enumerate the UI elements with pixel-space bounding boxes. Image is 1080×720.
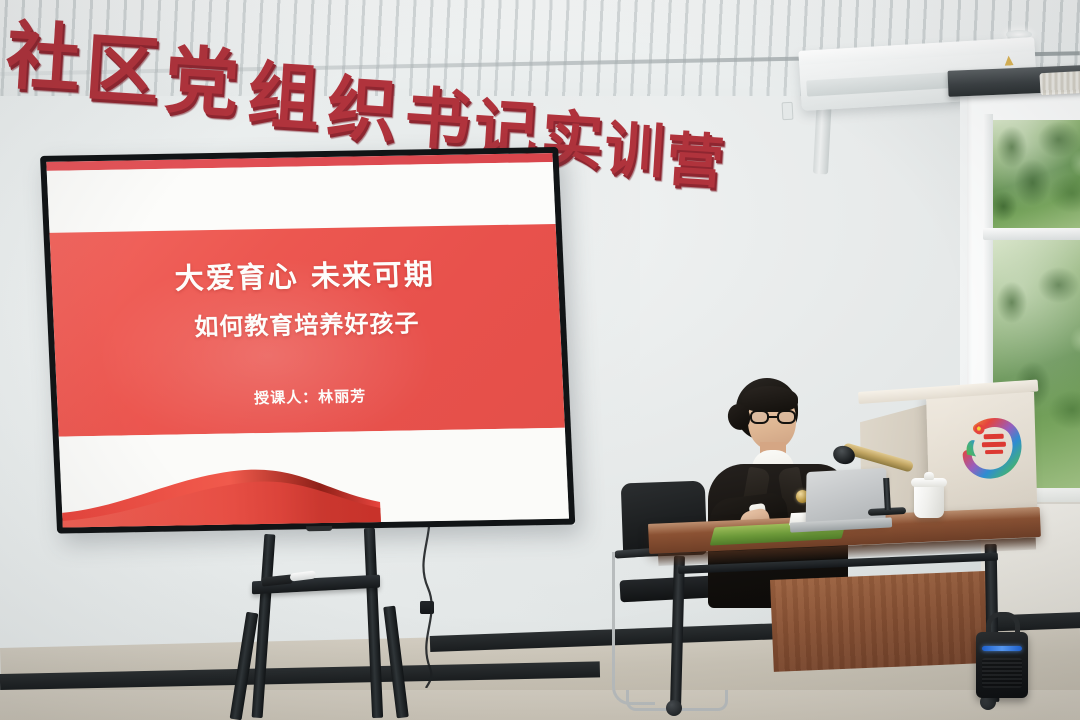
speaker-grill (982, 658, 1022, 688)
wall-slogan-char: 社 (4, 19, 83, 98)
wall-slogan-char: 营 (664, 130, 726, 192)
community-party-emblem-icon (961, 413, 1025, 483)
glasses-icon (750, 410, 796, 424)
floor-foreground (0, 690, 1080, 720)
wall-slogan-char: 训 (603, 119, 667, 183)
slide-title: 大爱育心 未来可期 (51, 249, 559, 300)
slide-canvas: 大爱育心 未来可期 如何教育培养好孩子 授课人：林丽芳 (46, 153, 569, 527)
tv-brand-logo (306, 526, 332, 531)
teacup[interactable] (914, 484, 944, 518)
chair-frame-left (612, 552, 655, 705)
wall-slogan-char: 组 (246, 58, 322, 134)
desk-caster-left (666, 700, 682, 716)
speaker-led-indicator (982, 646, 1022, 651)
classroom-scene: 社区党组织书记实训营 (0, 0, 1080, 720)
window-mullion-horizontal (983, 228, 1080, 240)
wall-slogan-char: 织 (325, 73, 399, 147)
slide-white-band (47, 162, 556, 233)
presentation-display[interactable]: 大爱育心 未来可期 如何教育培养好孩子 授课人：林丽芳 (40, 147, 575, 534)
warning-triangle-icon (1004, 55, 1014, 66)
wall-slogan-char: 书 (402, 85, 472, 155)
slide-red-ribbon (48, 448, 472, 527)
wall-switch[interactable] (782, 102, 794, 121)
teacup-lid-knob[interactable] (924, 472, 934, 480)
desk-modesty-panel (770, 571, 992, 672)
window-glass-top (991, 120, 1080, 228)
hair-fringe (742, 386, 798, 412)
wall-slogan-char: 区 (83, 31, 162, 110)
wall-slogan-char: 党 (162, 44, 241, 123)
rolled-curtain (1039, 71, 1080, 95)
tv-bezel: 大爱育心 未来可期 如何教育培养好孩子 授课人：林丽芳 (40, 147, 575, 534)
